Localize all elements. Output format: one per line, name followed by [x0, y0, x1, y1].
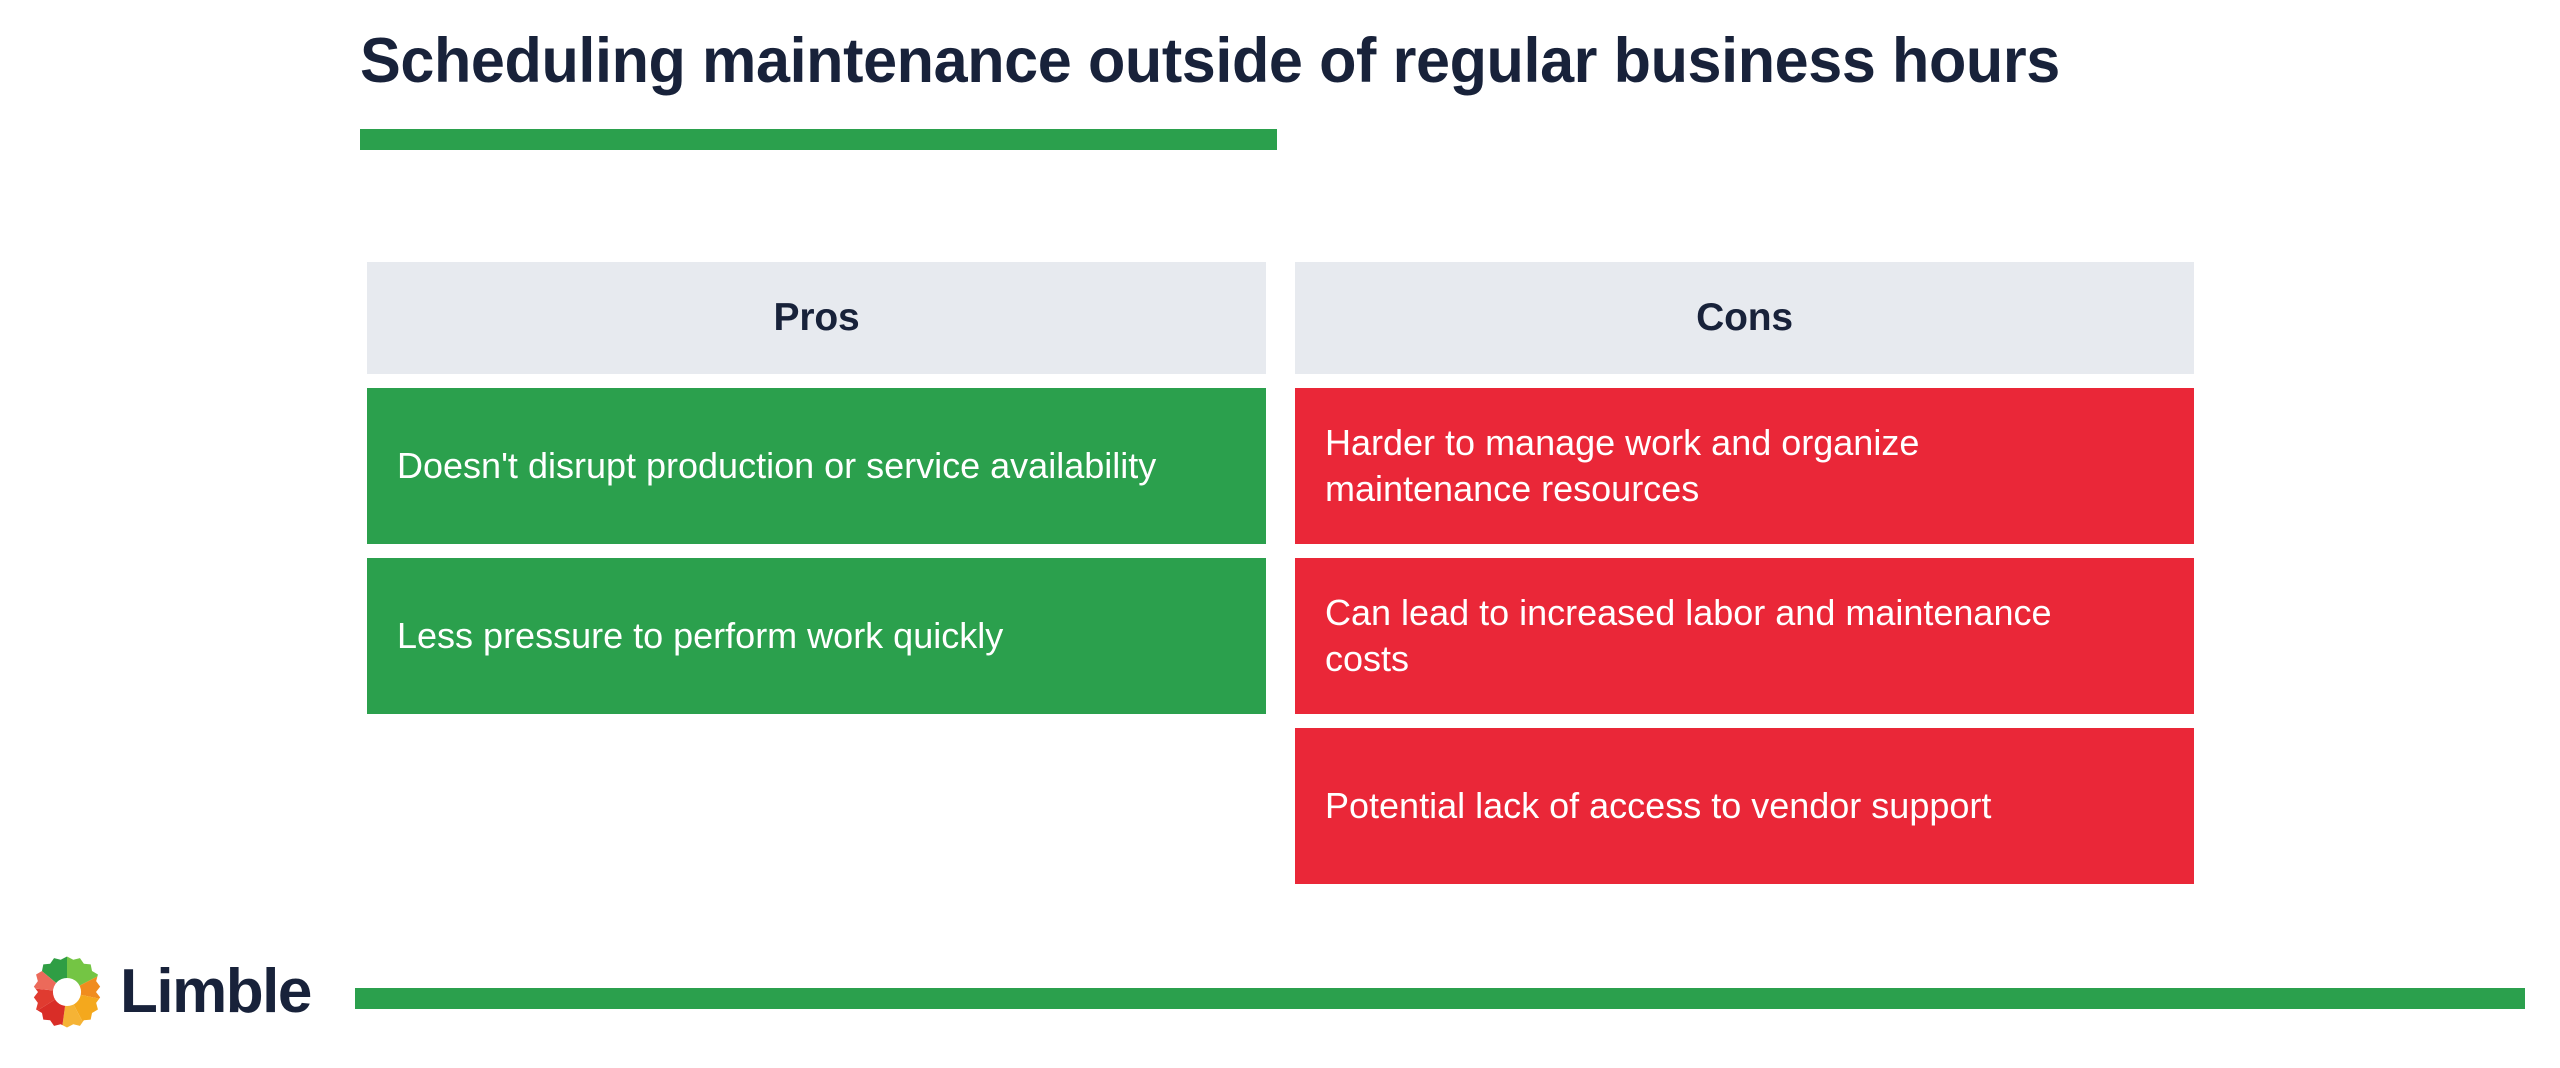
column-pros: Pros Doesn't disrupt production or servi…	[367, 262, 1266, 884]
table-row: Potential lack of access to vendor suppo…	[1295, 728, 2194, 884]
pro-item-2: Less pressure to perform work quickly	[397, 613, 1003, 659]
con-item-2: Can lead to increased labor and maintena…	[1325, 590, 2125, 682]
footer-accent-rule	[355, 988, 2525, 1009]
brand-logo: Limble	[30, 955, 311, 1029]
table-row: Harder to manage work and organize maint…	[1295, 388, 2194, 544]
column-header-pros: Pros	[367, 262, 1266, 374]
page-title: Scheduling maintenance outside of regula…	[360, 28, 2397, 94]
brand-name: Limble	[120, 961, 311, 1023]
column-cons: Cons Harder to manage work and organize …	[1295, 262, 2194, 884]
table-row: Less pressure to perform work quickly	[367, 558, 1266, 714]
pros-cons-table: Pros Doesn't disrupt production or servi…	[367, 262, 2194, 884]
column-header-cons: Cons	[1295, 262, 2194, 374]
table-row: Can lead to increased labor and maintena…	[1295, 558, 2194, 714]
table-row: Doesn't disrupt production or service av…	[367, 388, 1266, 544]
footer: Limble	[0, 948, 2560, 1068]
limble-gear-icon	[30, 955, 104, 1029]
title-block: Scheduling maintenance outside of regula…	[360, 28, 2460, 94]
pro-item-1: Doesn't disrupt production or service av…	[397, 443, 1156, 489]
slide-canvas: Scheduling maintenance outside of regula…	[0, 0, 2560, 1068]
con-item-1: Harder to manage work and organize maint…	[1325, 420, 2125, 512]
con-item-3: Potential lack of access to vendor suppo…	[1325, 783, 1991, 829]
title-accent-rule	[360, 129, 1277, 150]
